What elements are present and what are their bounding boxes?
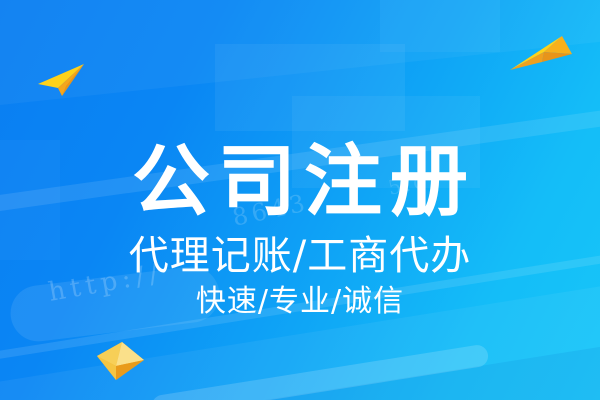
- banner-title: 公司注册: [0, 140, 600, 224]
- banner-tagline: 快速/专业/诚信: [0, 284, 600, 320]
- banner-subtitle: 代理记账/工商代办: [0, 233, 600, 279]
- promo-banner: http:// 8643 5.c 公司注册 代理记账/工商代办 快速/专业/诚: [0, 0, 600, 400]
- copy-block: 公司注册 代理记账/工商代办 快速/专业/诚信: [0, 0, 600, 400]
